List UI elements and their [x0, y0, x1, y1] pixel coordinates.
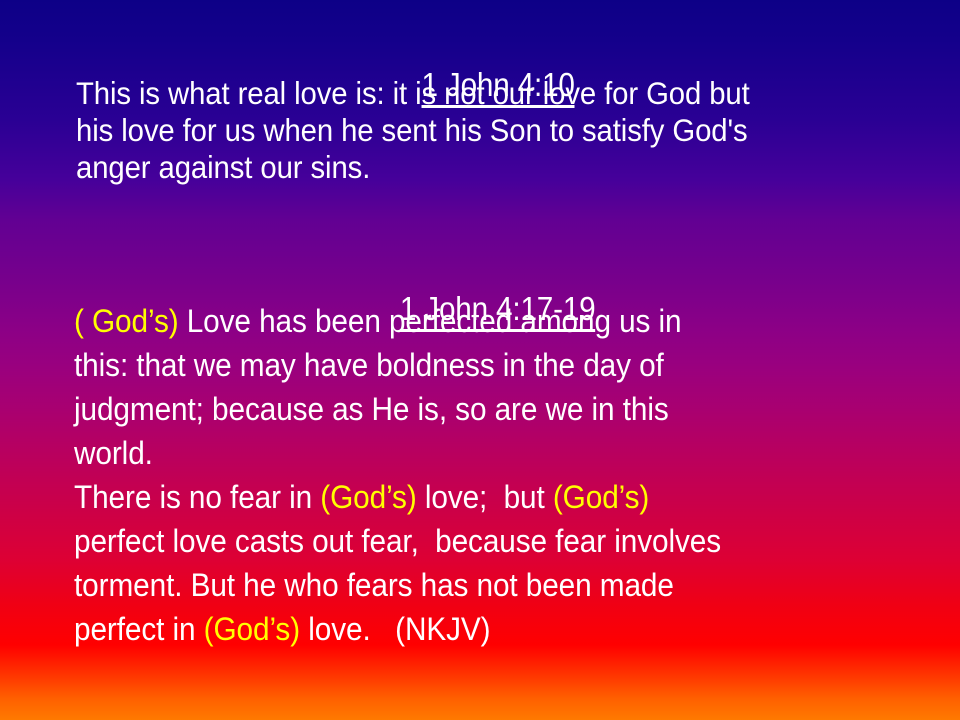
passage2-line-4: world. — [74, 432, 902, 476]
passage2-line-1: ( God’s) Love has been perfected among u… — [74, 300, 902, 344]
passage2-body-lower: There is no fear in (God’s) love; but (G… — [74, 476, 960, 652]
passage2-line-3: judgment; because as He is, so are we in… — [74, 388, 902, 432]
passage1-line-2: his love for us when he sent his Son to … — [76, 113, 898, 150]
passage2-line-8-b: love. (NKJV) — [300, 611, 490, 647]
passage2-line-5: There is no fear in (God’s) love; but (G… — [74, 476, 902, 520]
passage1-line-3: anger against our sins. — [76, 150, 898, 187]
presentation-slide: 1 John 4:10 This is what real love is: i… — [0, 0, 960, 720]
passage2-line-1-highlight: ( God’s) — [74, 303, 179, 339]
passage1-line-1: This is what real love is: it is not our… — [76, 76, 898, 113]
passage2-line-5-highlight-1: (God’s) — [320, 479, 416, 515]
passage2-line-5-a: There is no fear in — [74, 479, 320, 515]
passage2-line-5-highlight-2: (God’s) — [553, 479, 649, 515]
passage2-body-upper: ( God’s) Love has been perfected among u… — [74, 300, 960, 476]
passage2-line-7: torment. But he who fears has not been m… — [74, 564, 902, 608]
passage2-line-8: perfect in (God’s) love. (NKJV) — [74, 608, 902, 652]
passage2-line-5-b: love; but — [417, 479, 553, 515]
passage2-line-1-rest: Love has been perfected among us in — [179, 303, 682, 339]
passage2-line-6: perfect love casts out fear, because fea… — [74, 520, 902, 564]
passage2-line-8-a: perfect in — [74, 611, 204, 647]
passage2-line-2: this: that we may have boldness in the d… — [74, 344, 902, 388]
passage2-line-8-highlight: (God’s) — [204, 611, 300, 647]
passage1-body: This is what real love is: it is not our… — [76, 76, 960, 187]
